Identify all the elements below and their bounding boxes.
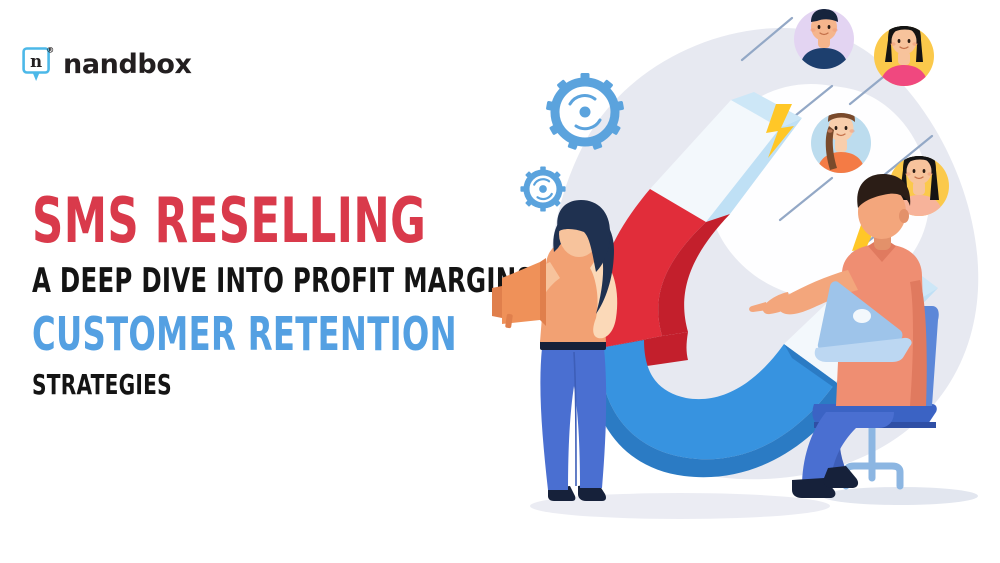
megaphone-icon	[492, 258, 546, 328]
nandbox-speech-bubble-logo-icon: n ®	[22, 43, 56, 83]
headline-line-1: SMS Reselling	[32, 190, 438, 252]
headline-line-2: A Deep Dive Into Profit Margins And	[32, 264, 448, 298]
woman-with-megaphone	[492, 200, 617, 501]
brand-wordmark: nandbox	[63, 51, 191, 78]
blog-banner: n ® nandbox SMS Reselling A Deep Dive In…	[0, 0, 1000, 563]
headline-line-3: Customer Retention	[32, 311, 438, 357]
svg-text:n: n	[30, 52, 42, 71]
customer-attraction-magnet-illustration	[480, 0, 1000, 563]
headline-block: SMS Reselling A Deep Dive Into Profit Ma…	[32, 190, 552, 399]
headline-line-4: Strategies	[32, 371, 448, 399]
svg-text:®: ®	[46, 45, 54, 54]
brand-logo[interactable]: n ® nandbox	[22, 42, 191, 84]
